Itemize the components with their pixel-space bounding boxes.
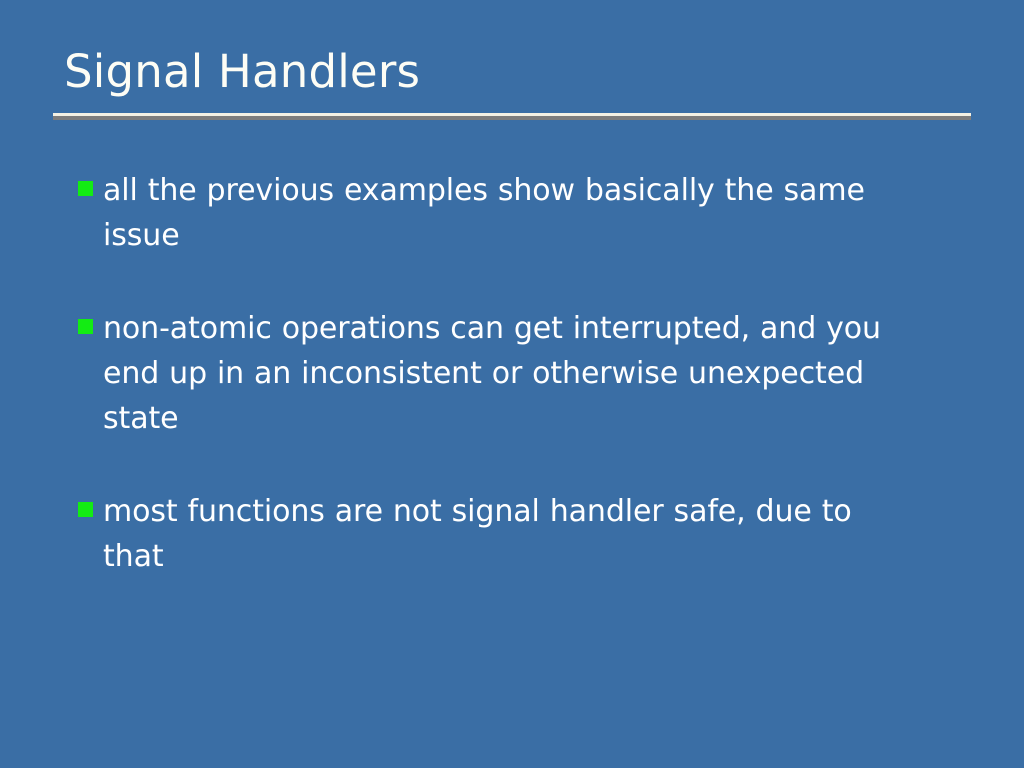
list-item: all the previous examples show basically… [0, 168, 1024, 258]
list-item: most functions are not signal handler sa… [0, 489, 1024, 579]
presentation-slide: Signal Handlers all the previous example… [0, 0, 1024, 768]
page-title: Signal Handlers [64, 44, 964, 100]
bullet-list: all the previous examples show basically… [0, 168, 1024, 579]
list-item-text: all the previous examples show basically… [103, 168, 914, 258]
square-bullet-icon [78, 181, 93, 196]
list-item-text: most functions are not signal handler sa… [103, 489, 914, 579]
title-divider-shadow [53, 116, 971, 120]
square-bullet-icon [78, 502, 93, 517]
title-divider-rule [53, 113, 971, 120]
square-bullet-icon [78, 319, 93, 334]
list-item: non-atomic operations can get interrupte… [0, 306, 1024, 441]
list-item-text: non-atomic operations can get interrupte… [103, 306, 914, 441]
